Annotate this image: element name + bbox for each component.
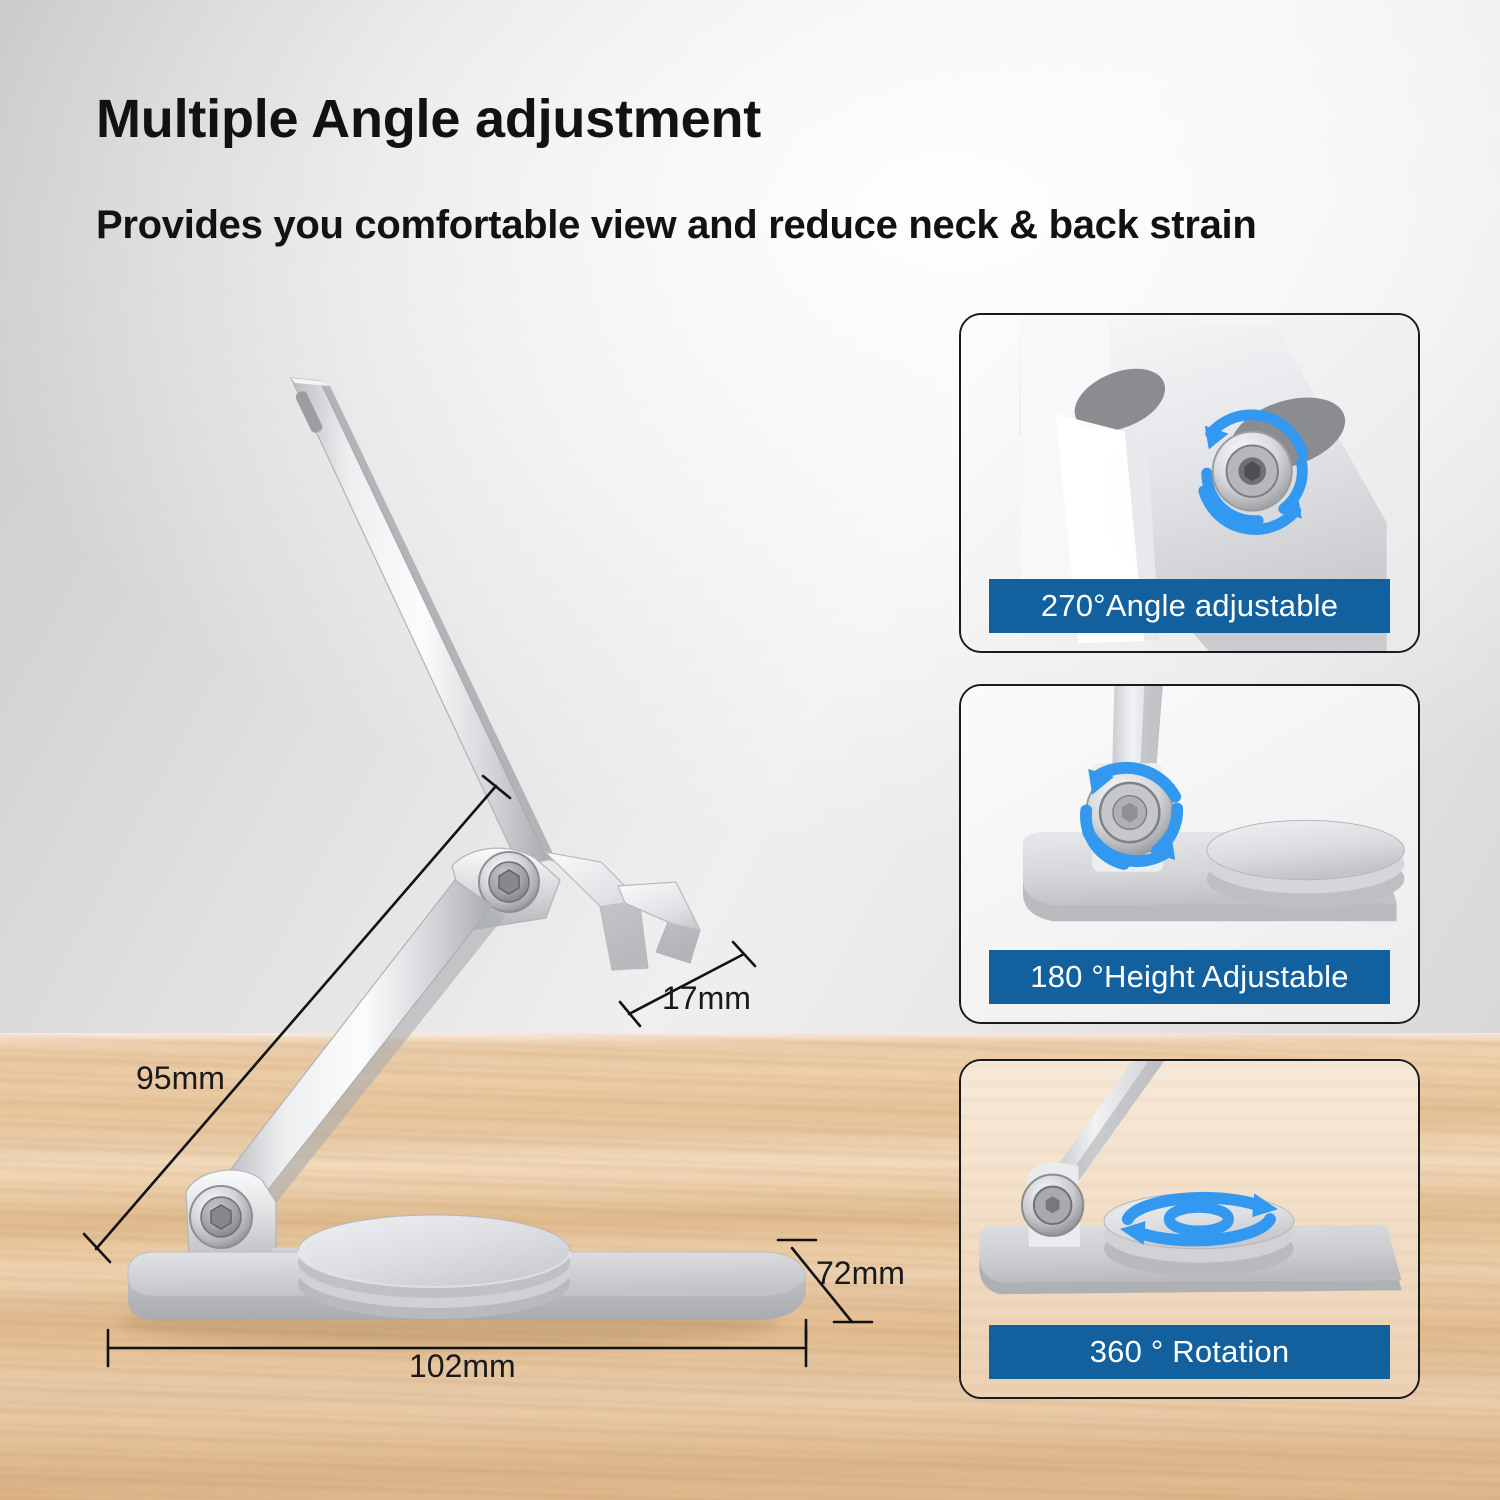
feature-label-rotation: 360 ° Rotation — [989, 1325, 1389, 1379]
feature-panel-height: 180 °Height Adjustable — [959, 684, 1420, 1024]
rotating-disc — [298, 1215, 570, 1319]
phone-cradle-lip — [545, 852, 700, 970]
hex-socket-icon-lower — [211, 1205, 231, 1229]
dim-line-95 — [96, 786, 496, 1249]
product-feature-image: Multiple Angle adjustment Provides you c… — [0, 0, 1500, 1500]
feature-label-height: 180 °Height Adjustable — [989, 950, 1389, 1004]
feature-panel-rotation: 360 ° Rotation — [959, 1059, 1420, 1399]
feature-panel-angle: 270°Angle adjustable — [959, 313, 1420, 653]
dimension-label-depth: 17mm — [662, 980, 751, 1017]
dimension-label-width: 102mm — [409, 1348, 516, 1385]
hex-socket-icon — [499, 870, 519, 894]
support-arm — [291, 378, 557, 866]
main-strut — [224, 880, 505, 1208]
feature-label-angle: 270°Angle adjustable — [989, 579, 1389, 633]
dimension-label-height: 95mm — [136, 1060, 225, 1097]
dimension-label-base-depth: 72mm — [816, 1255, 905, 1292]
